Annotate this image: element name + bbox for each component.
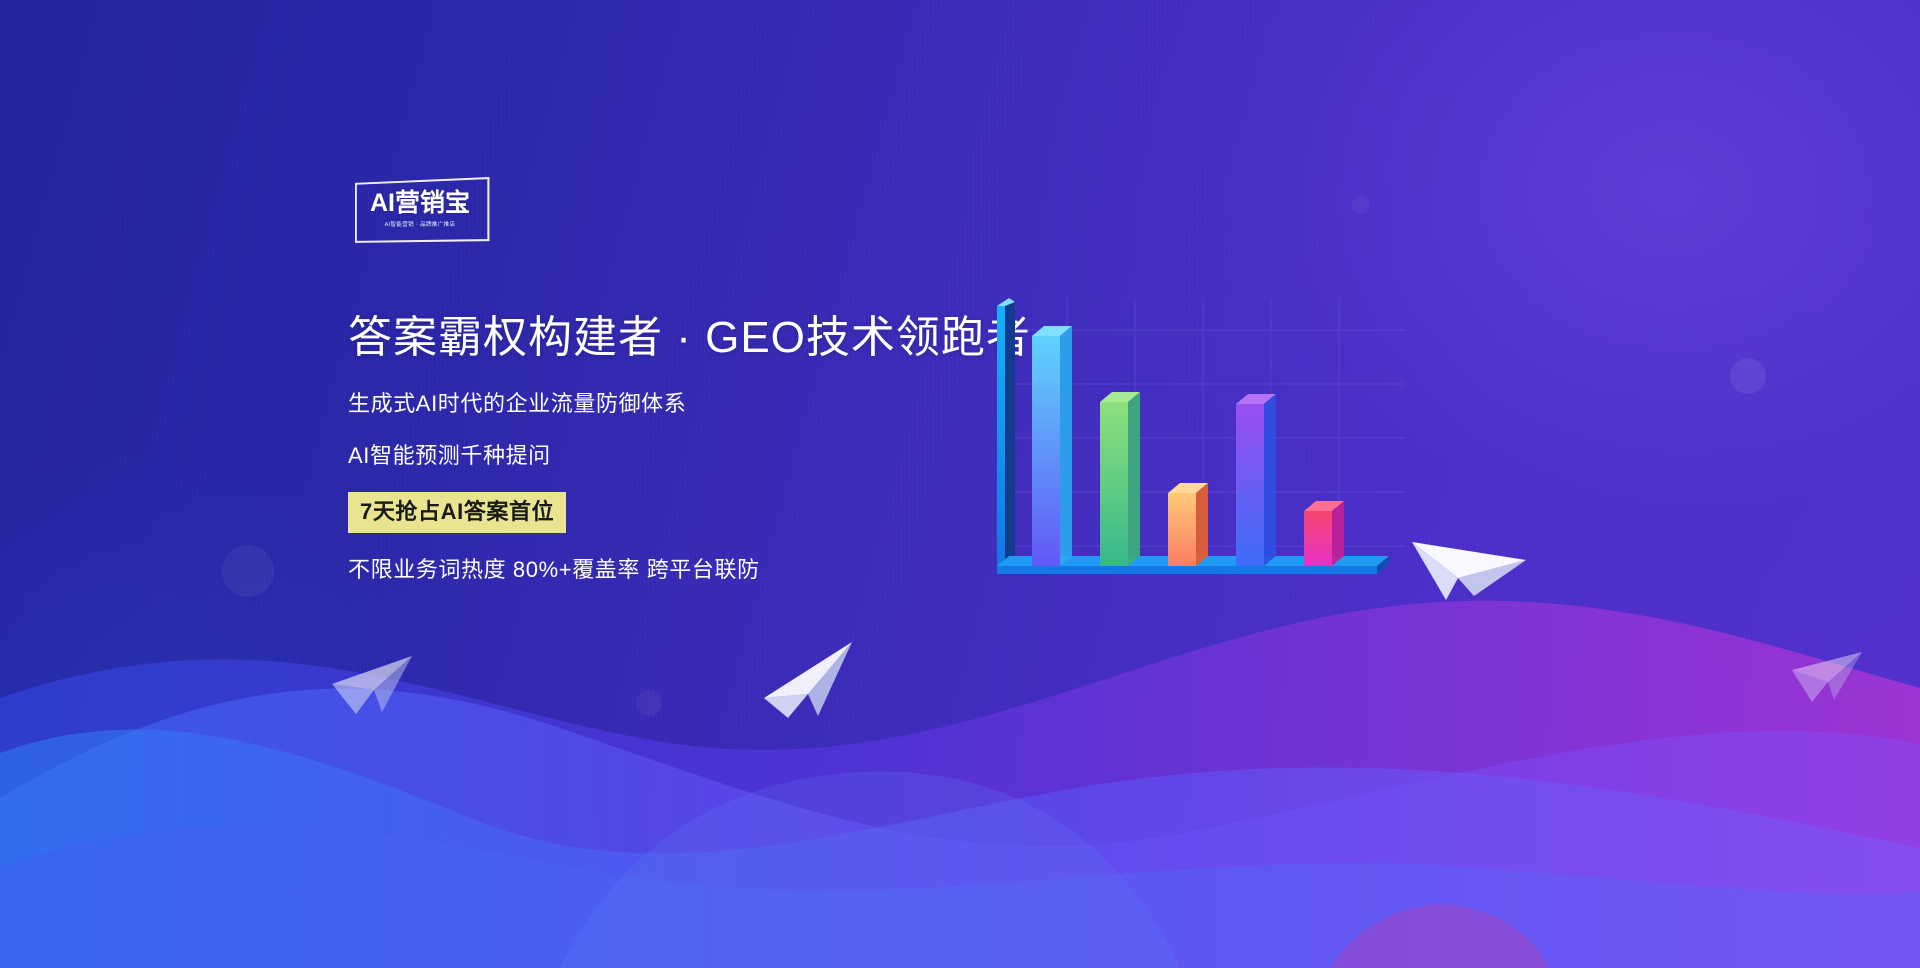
chart-bar-3 xyxy=(1168,483,1208,566)
page-title: 答案霸权构建者 · GEO技术领跑者 xyxy=(348,312,1008,363)
decorative-circle xyxy=(1352,196,1370,214)
chart-bars xyxy=(1032,326,1344,566)
brand-logo[interactable]: AI营销宝 AI智能营销 · 品牌推广推店 xyxy=(352,180,488,242)
hero-subtitle-1: 生成式AI时代的企业流量防御体系 xyxy=(348,393,1008,415)
chart-bar-1 xyxy=(1032,326,1072,566)
paper-plane-icon xyxy=(1790,648,1874,720)
logo-tagline: AI智能营销 · 品牌推广推店 xyxy=(357,222,482,228)
hero-highlight-wrapper: 7天抢占AI答案首位 xyxy=(348,492,1008,533)
chart-y-axis xyxy=(997,298,1015,566)
hero-subtitle-2: AI智能预测千种提问 xyxy=(348,445,1008,467)
decorative-circle xyxy=(1730,358,1766,394)
paper-plane-icon xyxy=(760,638,864,726)
hero-subtitle-3: 不限业务词热度 80%+覆盖率 跨平台联防 xyxy=(348,559,1008,581)
bar-chart-illustration xyxy=(985,298,1405,598)
hero-highlight-badge: 7天抢占AI答案首位 xyxy=(348,492,566,533)
chart-bar-2 xyxy=(1100,392,1140,566)
wave-decoration xyxy=(0,548,1920,968)
chart-bar-5 xyxy=(1304,501,1344,566)
paper-plane-icon xyxy=(1410,516,1530,608)
hero-copy: 答案霸权构建者 · GEO技术领跑者 生成式AI时代的企业流量防御体系 AI智能… xyxy=(348,312,1008,581)
paper-plane-icon xyxy=(330,650,426,730)
chart-bar-4 xyxy=(1236,394,1276,566)
logo-wordmark: AI营销宝 xyxy=(352,191,488,216)
hero-banner: AI营销宝 AI智能营销 · 品牌推广推店 答案霸权构建者 · GEO技术领跑者… xyxy=(0,0,1920,968)
